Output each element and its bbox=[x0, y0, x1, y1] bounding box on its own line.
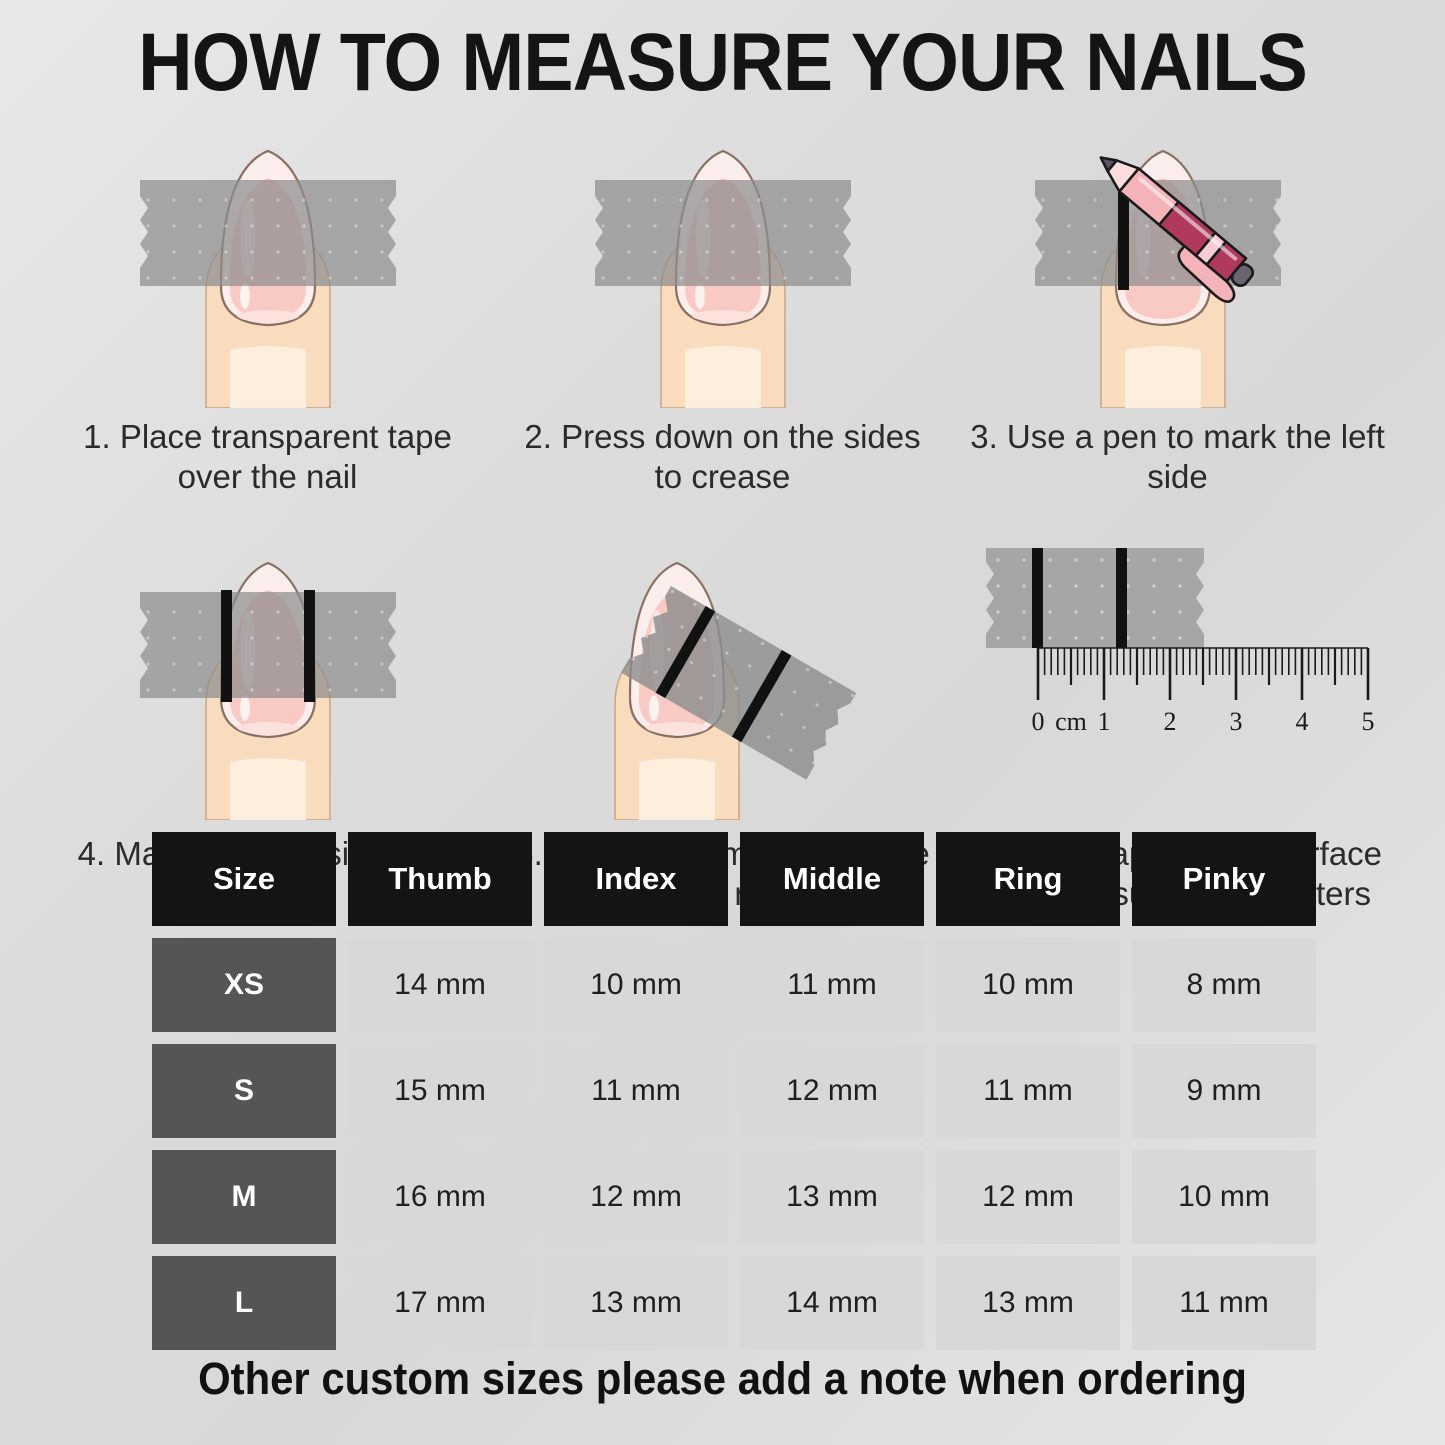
cell-xs-middle: 11 mm bbox=[740, 938, 924, 1032]
ruler-label-2: 2 bbox=[1163, 707, 1176, 736]
row-size-xs: XS bbox=[152, 938, 336, 1032]
cell-s-pinky: 9 mm bbox=[1132, 1044, 1316, 1138]
cell-s-ring: 11 mm bbox=[936, 1044, 1120, 1138]
cell-m-thumb: 16 mm bbox=[348, 1150, 532, 1244]
footer-note: Other custom sizes please add a note whe… bbox=[51, 1353, 1395, 1405]
cell-xs-pinky: 8 mm bbox=[1132, 938, 1316, 1032]
header-ring: Ring bbox=[936, 832, 1120, 926]
row-size-l: L bbox=[152, 1256, 336, 1350]
right-mark bbox=[304, 590, 315, 702]
header-size: Size bbox=[152, 832, 336, 926]
cell-m-middle: 13 mm bbox=[740, 1150, 924, 1244]
ruler-label-5: 5 bbox=[1361, 707, 1374, 736]
row-size-s: S bbox=[152, 1044, 336, 1138]
step-3-caption: 3. Use a pen to mark the left side bbox=[968, 417, 1388, 498]
table-row: L 17 mm 13 mm 14 mm 13 mm 11 mm bbox=[152, 1256, 1332, 1350]
step-3: 3. Use a pen to mark the left side bbox=[950, 118, 1405, 498]
step-2-caption: 2. Press down on the sides to crease bbox=[513, 417, 933, 498]
cell-l-thumb: 17 mm bbox=[348, 1256, 532, 1350]
tape-strip-creased bbox=[595, 180, 851, 286]
tape-flat bbox=[986, 548, 1204, 648]
header-index: Index bbox=[544, 832, 728, 926]
steps-grid: 1. Place transparent tape over the nail bbox=[40, 118, 1405, 914]
cell-s-index: 11 mm bbox=[544, 1044, 728, 1138]
tape-strip bbox=[140, 592, 396, 698]
cell-s-thumb: 15 mm bbox=[348, 1044, 532, 1138]
table-row: S 15 mm 11 mm 12 mm 11 mm 9 mm bbox=[152, 1044, 1332, 1138]
right-mark bbox=[1116, 548, 1127, 648]
tape-strip bbox=[140, 180, 396, 286]
step-6-illustration: 0 cm 1 2 3 4 5 bbox=[950, 530, 1405, 830]
page-title: HOW TO MEASURE YOUR NAILS bbox=[58, 16, 1387, 110]
cell-m-index: 12 mm bbox=[544, 1150, 728, 1244]
step-1-caption: 1. Place transparent tape over the nail bbox=[58, 417, 478, 498]
step-1: 1. Place transparent tape over the nail bbox=[40, 118, 495, 498]
cell-l-middle: 14 mm bbox=[740, 1256, 924, 1350]
infographic-page: HOW TO MEASURE YOUR NAILS bbox=[0, 0, 1445, 1445]
cell-s-middle: 12 mm bbox=[740, 1044, 924, 1138]
ruler-label-cm: cm bbox=[1055, 707, 1087, 736]
ruler bbox=[1038, 648, 1368, 700]
ruler-label-1: 1 bbox=[1097, 707, 1110, 736]
cell-xs-ring: 10 mm bbox=[936, 938, 1120, 1032]
step-3-illustration bbox=[950, 118, 1405, 413]
left-mark bbox=[1032, 548, 1043, 648]
step-2: 2. Press down on the sides to crease bbox=[495, 118, 950, 498]
row-size-m: M bbox=[152, 1150, 336, 1244]
step-4-illustration bbox=[40, 530, 495, 830]
step-2-illustration bbox=[495, 118, 950, 413]
ruler-label-4: 4 bbox=[1295, 707, 1308, 736]
step-5-illustration bbox=[495, 530, 950, 830]
cell-xs-index: 10 mm bbox=[544, 938, 728, 1032]
cell-l-index: 13 mm bbox=[544, 1256, 728, 1350]
cell-m-pinky: 10 mm bbox=[1132, 1150, 1316, 1244]
step-1-illustration bbox=[40, 118, 495, 413]
cell-l-ring: 13 mm bbox=[936, 1256, 1120, 1350]
header-middle: Middle bbox=[740, 832, 924, 926]
cell-m-ring: 12 mm bbox=[936, 1150, 1120, 1244]
table-header-row: Size Thumb Index Middle Ring Pinky bbox=[152, 832, 1332, 926]
ruler-label-0: 0 bbox=[1031, 707, 1044, 736]
table-row: XS 14 mm 10 mm 11 mm 10 mm 8 mm bbox=[152, 938, 1332, 1032]
size-table: Size Thumb Index Middle Ring Pinky XS 14… bbox=[152, 832, 1332, 1362]
steps-row-top: 1. Place transparent tape over the nail bbox=[40, 118, 1405, 498]
ruler-label-3: 3 bbox=[1229, 707, 1242, 736]
ruler-labels: 0 cm 1 2 3 4 5 bbox=[1031, 707, 1374, 736]
left-mark bbox=[221, 590, 232, 702]
cell-xs-thumb: 14 mm bbox=[348, 938, 532, 1032]
header-thumb: Thumb bbox=[348, 832, 532, 926]
header-pinky: Pinky bbox=[1132, 832, 1316, 926]
cell-l-pinky: 11 mm bbox=[1132, 1256, 1316, 1350]
table-row: M 16 mm 12 mm 13 mm 12 mm 10 mm bbox=[152, 1150, 1332, 1244]
